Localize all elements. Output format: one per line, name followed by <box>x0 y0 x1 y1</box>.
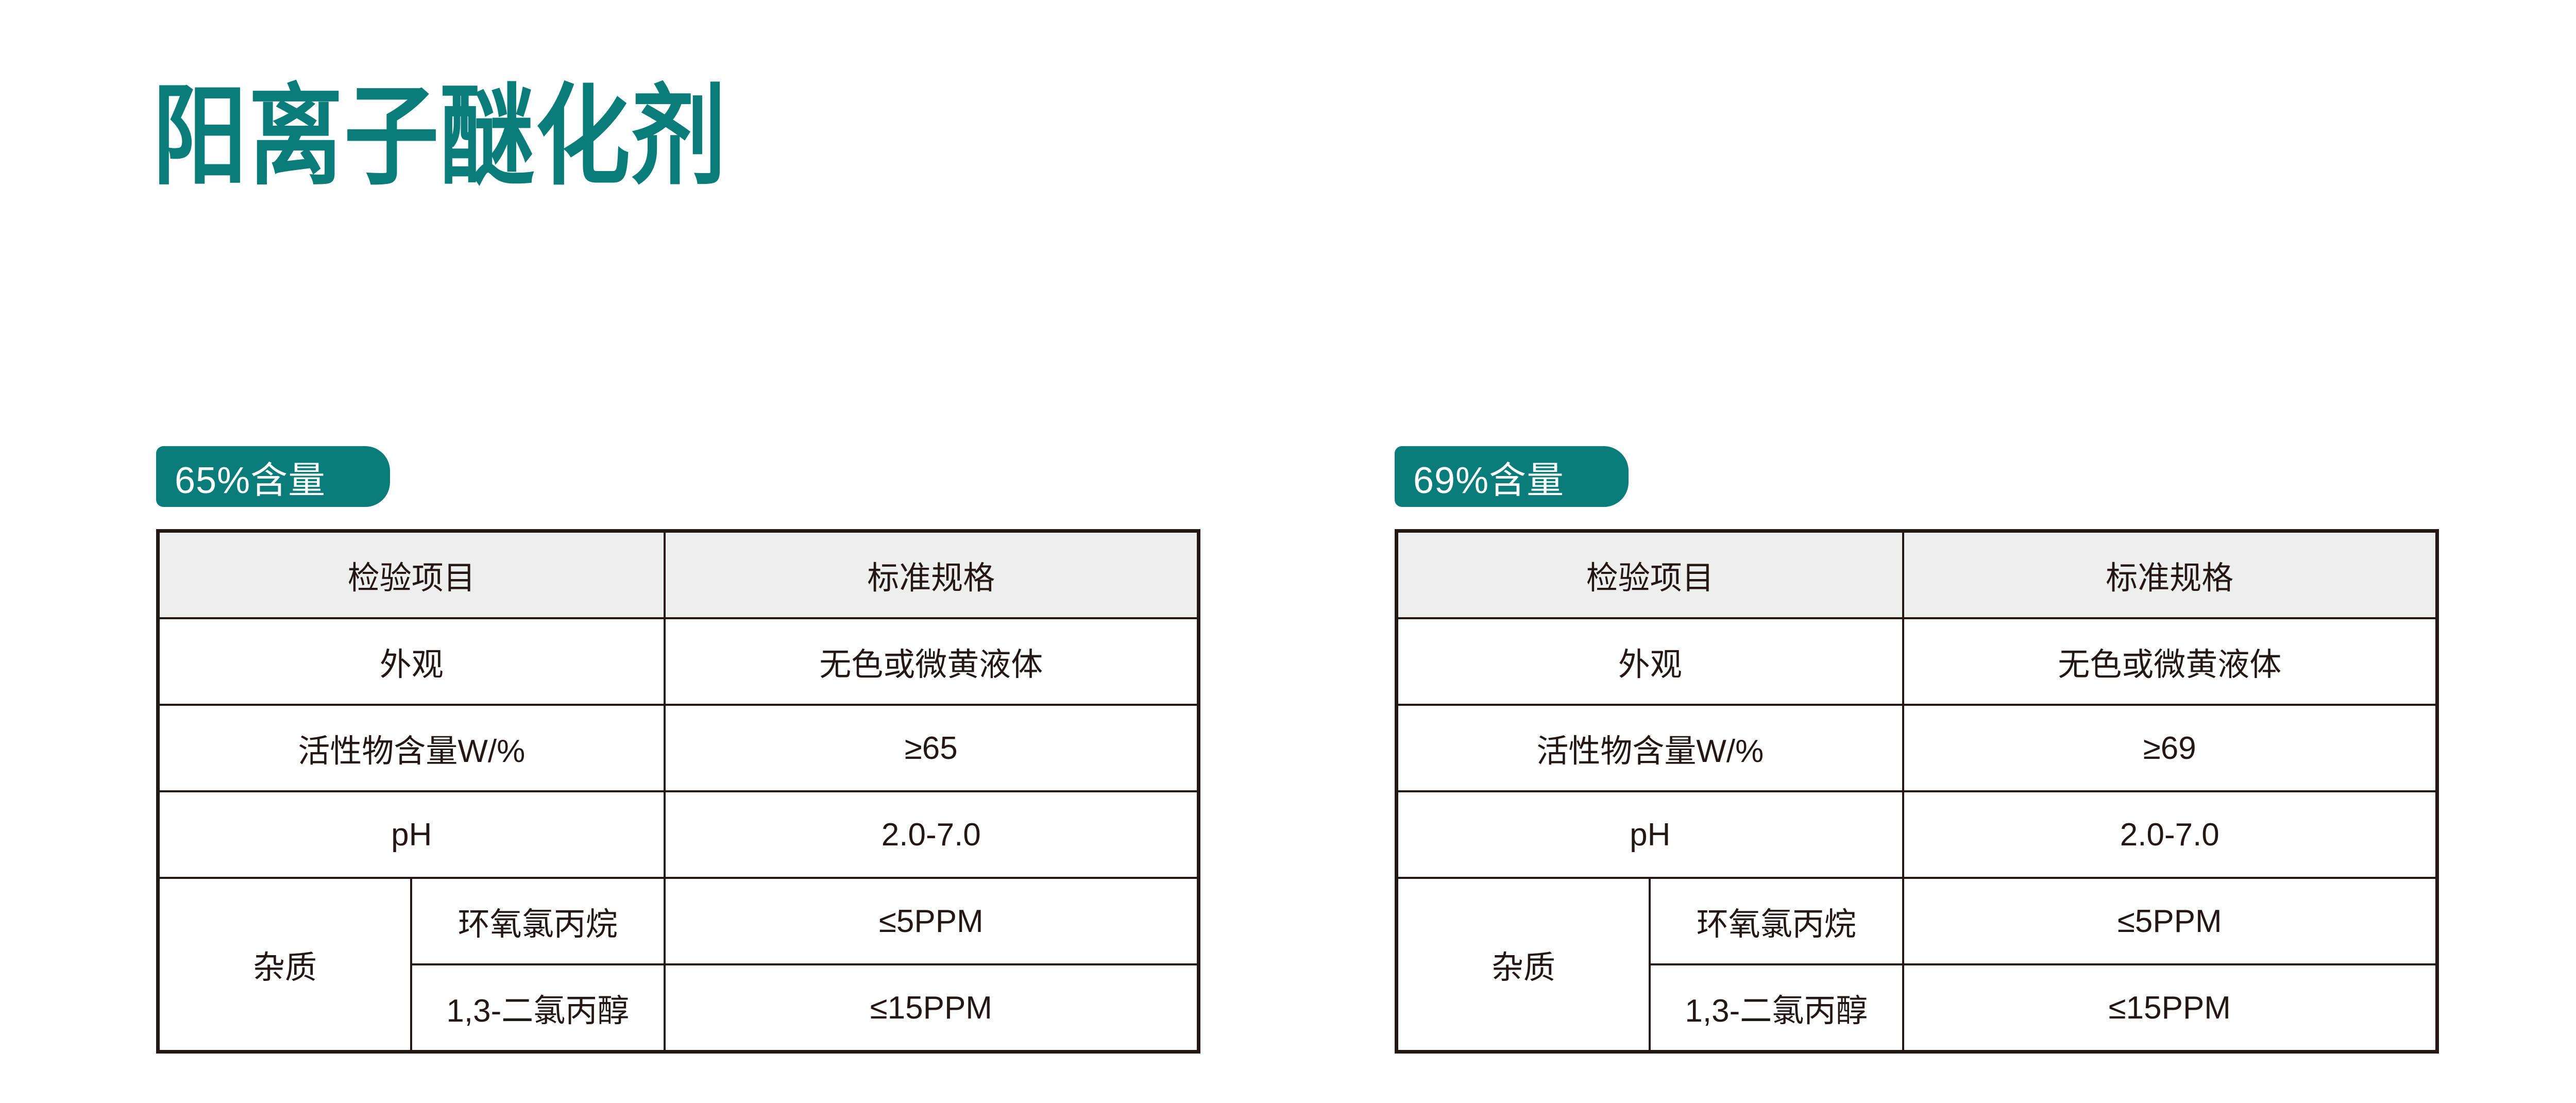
cell-spec: ≥69 <box>1903 705 2437 791</box>
cell-impurity-group-label: 杂质 <box>1397 878 1650 1052</box>
table-row: 杂质 环氧氯丙烷 ≤5PPM <box>158 878 1199 964</box>
cell-spec: ≤5PPM <box>1903 878 2437 964</box>
cell-spec: 无色或微黄液体 <box>665 618 1199 705</box>
spec-block-69: 69%含量 检验项目 标准规格 外观 无色或微黄液体 活性物含量W/% ≥69 … <box>1392 0 2441 1103</box>
cell-spec: ≤5PPM <box>665 878 1199 964</box>
content-badge-65: 65%含量 <box>156 446 390 507</box>
cell-spec: ≥65 <box>665 705 1199 791</box>
table-row: 活性物含量W/% ≥69 <box>1397 705 2437 791</box>
cell-item: pH <box>1397 791 1903 878</box>
cell-item: 外观 <box>1397 618 1903 705</box>
table-row: 杂质 环氧氯丙烷 ≤5PPM <box>1397 878 2437 964</box>
cell-spec: 2.0-7.0 <box>665 791 1199 878</box>
table-row: 外观 无色或微黄液体 <box>1397 618 2437 705</box>
table-header-row: 检验项目 标准规格 <box>158 531 1199 619</box>
cell-spec: 2.0-7.0 <box>1903 791 2437 878</box>
spec-table-69: 检验项目 标准规格 外观 无色或微黄液体 活性物含量W/% ≥69 pH 2.0… <box>1395 529 2439 1054</box>
table-row: pH 2.0-7.0 <box>158 791 1199 878</box>
cell-spec: ≤15PPM <box>665 964 1199 1052</box>
cell-spec: 无色或微黄液体 <box>1903 618 2437 705</box>
cell-item: 活性物含量W/% <box>1397 705 1903 791</box>
column-header-item: 检验项目 <box>158 531 665 619</box>
column-header-spec: 标准规格 <box>1903 531 2437 619</box>
content-badge-69: 69%含量 <box>1395 446 1629 507</box>
cell-spec: ≤15PPM <box>1903 964 2437 1052</box>
cell-impurity-name: 环氧氯丙烷 <box>1650 878 1903 964</box>
cell-impurity-name: 环氧氯丙烷 <box>411 878 665 964</box>
cell-impurity-name: 1,3-二氯丙醇 <box>1650 964 1903 1052</box>
table-row: 外观 无色或微黄液体 <box>158 618 1199 705</box>
cell-item: pH <box>158 791 665 878</box>
table-row: 活性物含量W/% ≥65 <box>158 705 1199 791</box>
cell-impurity-name: 1,3-二氯丙醇 <box>411 964 665 1052</box>
cell-impurity-group-label: 杂质 <box>158 878 412 1052</box>
spec-table-65: 检验项目 标准规格 外观 无色或微黄液体 活性物含量W/% ≥65 pH 2.0… <box>156 529 1200 1054</box>
column-header-spec: 标准规格 <box>665 531 1199 619</box>
spec-block-65: 65%含量 检验项目 标准规格 外观 无色或微黄液体 活性物含量W/% ≥65 … <box>154 0 1202 1103</box>
table-row: pH 2.0-7.0 <box>1397 791 2437 878</box>
table-header-row: 检验项目 标准规格 <box>1397 531 2437 619</box>
cell-item: 外观 <box>158 618 665 705</box>
cell-item: 活性物含量W/% <box>158 705 665 791</box>
column-header-item: 检验项目 <box>1397 531 1903 619</box>
